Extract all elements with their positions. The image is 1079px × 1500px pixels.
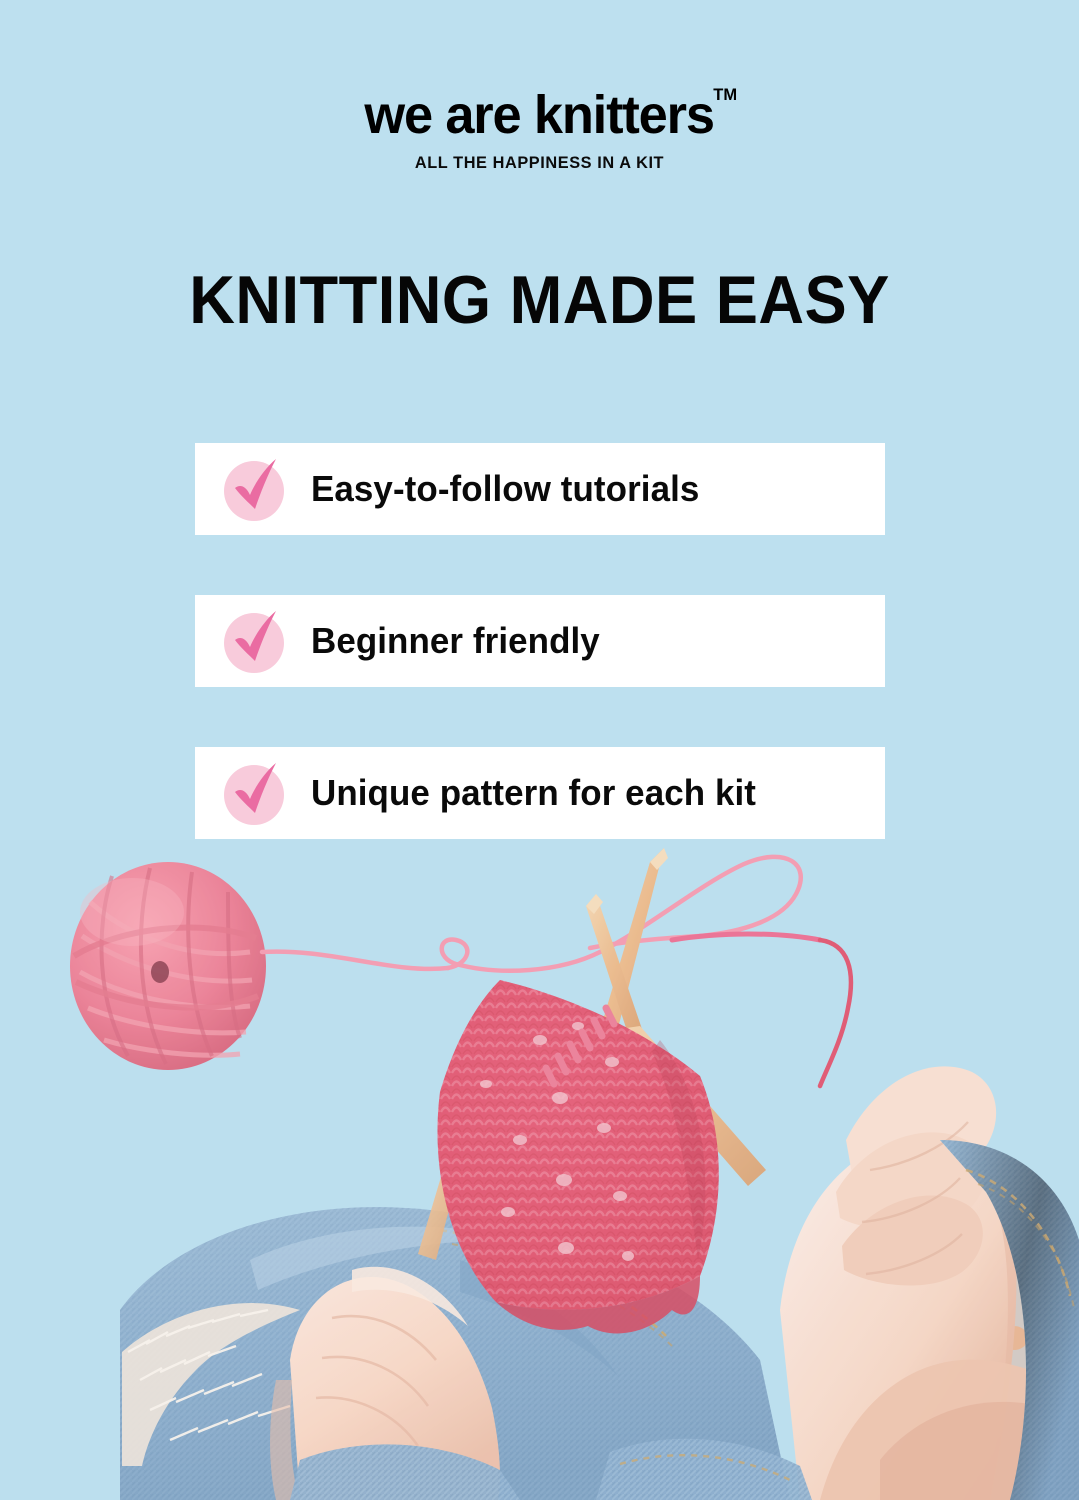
- check-icon: [221, 606, 291, 676]
- feature-card: Beginner friendly: [195, 595, 885, 687]
- hero-photo: [0, 840, 1079, 1500]
- poster-root: we are knitters TM ALL THE HAPPINESS IN …: [0, 0, 1079, 1500]
- check-icon: [221, 758, 291, 828]
- brand-tagline: ALL THE HAPPINESS IN A KIT: [22, 153, 1058, 173]
- feature-label: Easy-to-follow tutorials: [311, 468, 699, 510]
- brand-header: we are knitters TM ALL THE HAPPINESS IN …: [0, 88, 1079, 173]
- feature-label: Unique pattern for each kit: [311, 772, 756, 814]
- feature-label: Beginner friendly: [311, 620, 600, 662]
- brand-wordmark-text: we are knitters: [365, 85, 714, 145]
- feature-card: Unique pattern for each kit: [195, 747, 885, 839]
- page-title: KNITTING MADE EASY: [38, 266, 1041, 334]
- feature-list: Easy-to-follow tutorials Beginner friend…: [195, 443, 885, 839]
- trademark-icon: TM: [714, 86, 738, 103]
- feature-card: Easy-to-follow tutorials: [195, 443, 885, 535]
- brand-wordmark: we are knitters TM: [365, 88, 714, 143]
- check-icon: [221, 454, 291, 524]
